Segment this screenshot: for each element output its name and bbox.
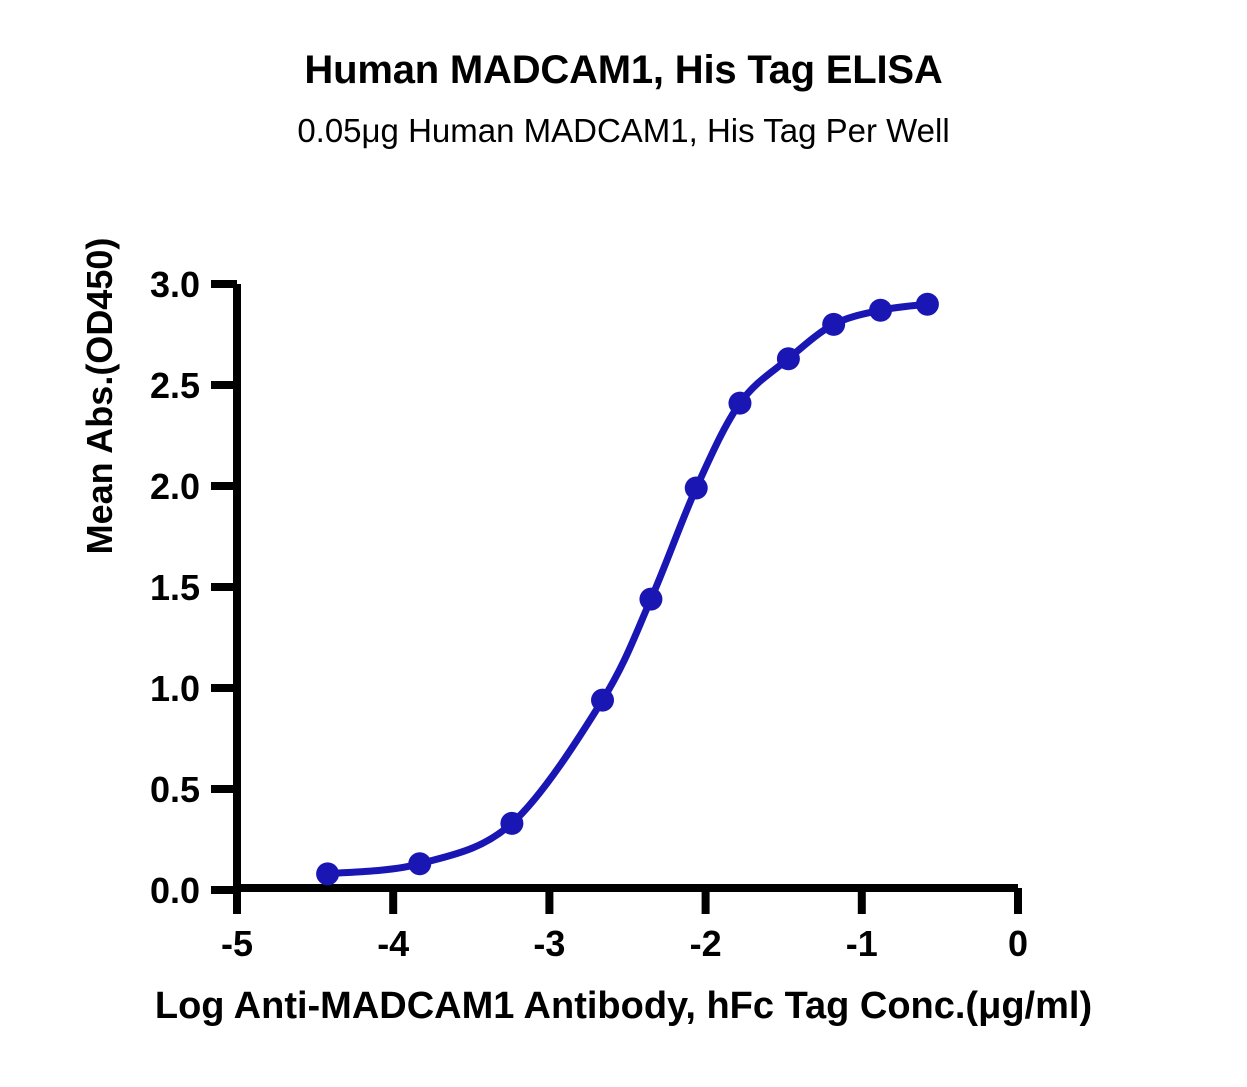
y-tick-label: 1.0 [150,668,200,709]
data-point [316,862,339,885]
data-point [639,588,662,611]
data-point [685,477,708,500]
y-tick-label: 1.5 [150,567,200,608]
x-tick-label: -4 [377,923,409,964]
y-axis-label: Mean Abs.(OD450) [79,176,121,616]
y-tick-label: 0.0 [150,870,200,911]
data-series-group [316,293,939,886]
x-axis-tick-labels: -5-4-3-2-10 [221,923,1028,964]
series-line-anti-madcam1 [328,304,928,874]
x-tick-label: -5 [221,923,253,964]
data-point [728,392,751,415]
y-axis-tick-labels: 0.00.51.01.52.02.53.0 [150,264,200,911]
data-point [916,293,939,316]
y-tick-label: 2.5 [150,365,200,406]
data-point [408,852,431,875]
x-axis-label: Log Anti-MADCAM1 Antibody, hFc Tag Conc.… [0,985,1247,1028]
x-tick-label: -3 [533,923,565,964]
series-markers-anti-madcam1 [316,293,939,886]
y-tick-label: 3.0 [150,264,200,305]
y-axis: 0.00.51.01.52.02.53.0 [150,264,237,911]
x-tick-label: -1 [846,923,878,964]
data-point [500,812,523,835]
y-tick-label: 2.0 [150,466,200,507]
chart-figure: Human MADCAM1, His Tag ELISA 0.05μg Huma… [0,0,1247,1087]
data-point [777,347,800,370]
plot-area: 0.00.51.01.52.02.53.0 -5-4-3-2-10 [0,0,1247,1087]
data-point [822,313,845,336]
y-tick-label: 0.5 [150,769,200,810]
x-tick-label: -2 [690,923,722,964]
data-point [591,689,614,712]
x-axis: -5-4-3-2-10 [221,888,1028,964]
data-point [869,299,892,322]
x-tick-label: 0 [1008,923,1028,964]
